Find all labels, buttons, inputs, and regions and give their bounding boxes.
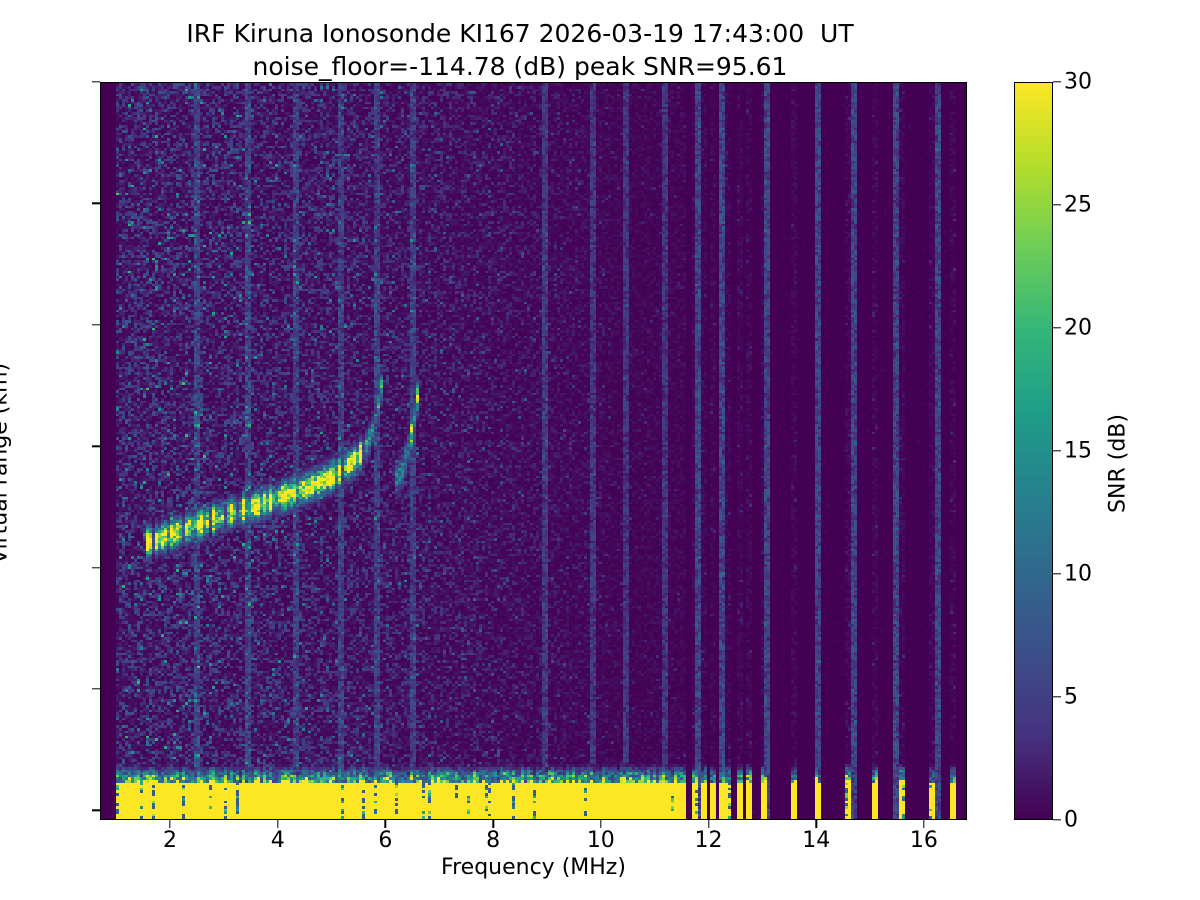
ionogram-plot-area[interactable] [100, 82, 967, 820]
colorbar-tick-label: 10 [1064, 562, 1092, 587]
colorbar-tick-mark [1053, 204, 1061, 205]
colorbar-tick-mark [1053, 81, 1061, 82]
x-axis-label: Frequency (MHz) [100, 855, 967, 880]
x-tick-mark [816, 820, 817, 828]
colorbar-tick-label: 30 [1064, 70, 1092, 95]
colorbar-tick-label: 15 [1064, 439, 1092, 464]
colorbar-tick-label: 25 [1064, 193, 1092, 218]
x-tick-label: 6 [378, 828, 392, 853]
x-tick-label: 16 [910, 828, 938, 853]
y-tick-mark [92, 324, 100, 325]
colorbar-tick-mark [1053, 450, 1061, 451]
colorbar-tick-mark [1053, 819, 1061, 820]
colorbar-gradient [1015, 83, 1053, 820]
x-tick-mark [923, 820, 924, 828]
x-tick-mark [600, 820, 601, 828]
y-tick-mark [92, 567, 100, 568]
colorbar[interactable] [1014, 82, 1053, 820]
colorbar-tick-mark [1053, 327, 1061, 328]
y-tick-mark [92, 445, 100, 446]
colorbar-tick-label: 0 [1064, 808, 1078, 833]
x-tick-mark [385, 820, 386, 828]
x-tick-label: 8 [486, 828, 500, 853]
x-tick-label: 12 [695, 828, 723, 853]
colorbar-tick-label: 5 [1064, 685, 1078, 710]
colorbar-tick-mark [1053, 573, 1061, 574]
colorbar-label: SNR (dB) [1106, 164, 1131, 764]
title-line-2: noise_floor=-114.78 (dB) peak SNR=95.61 [0, 51, 1040, 84]
y-tick-mark [92, 203, 100, 204]
title-line-1: IRF Kiruna Ionosonde KI167 2026-03-19 17… [0, 18, 1040, 51]
ionogram-figure: IRF Kiruna Ionosonde KI167 2026-03-19 17… [0, 0, 1200, 900]
x-tick-mark [708, 820, 709, 828]
x-tick-mark [277, 820, 278, 828]
x-tick-label: 4 [271, 828, 285, 853]
x-tick-mark [492, 820, 493, 828]
x-tick-label: 14 [802, 828, 830, 853]
y-tick-mark [92, 810, 100, 811]
x-tick-mark [169, 820, 170, 828]
ionogram-heatmap-canvas[interactable] [101, 83, 967, 820]
x-tick-label: 10 [587, 828, 615, 853]
y-tick-mark [92, 81, 100, 82]
y-tick-mark [92, 688, 100, 689]
colorbar-tick-mark [1053, 696, 1061, 697]
colorbar-tick-label: 20 [1064, 316, 1092, 341]
x-tick-label: 2 [163, 828, 177, 853]
figure-title: IRF Kiruna Ionosonde KI167 2026-03-19 17… [0, 18, 1040, 83]
y-axis-label: Virtual range (km) [0, 164, 13, 764]
